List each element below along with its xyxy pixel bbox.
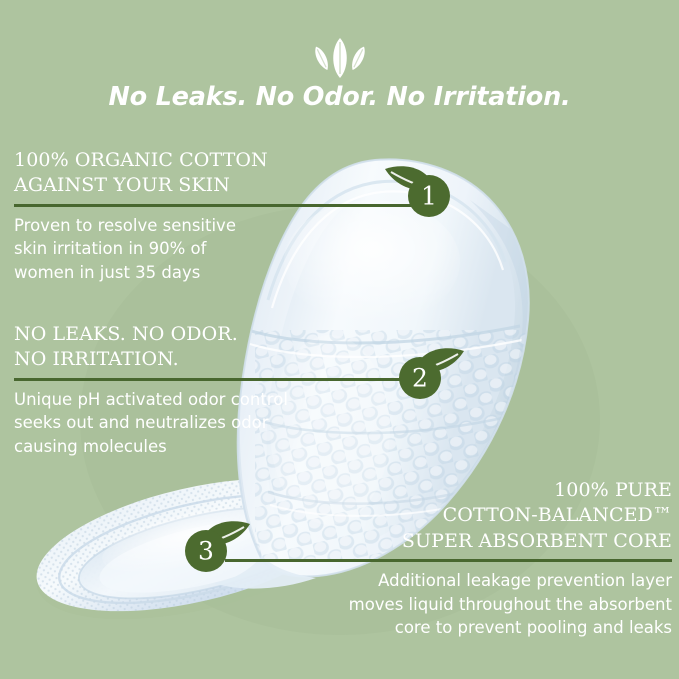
callout-3-divider bbox=[225, 559, 672, 562]
callout-2-divider bbox=[14, 378, 424, 381]
callout-block-3: 100% PURE COTTON-BALANCED™ SUPER ABSORBE… bbox=[225, 478, 672, 640]
callout-1-divider bbox=[14, 204, 412, 207]
callout-3-body: Additional leakage prevention layer move… bbox=[225, 569, 672, 640]
callout-badge-3: 3 bbox=[178, 518, 252, 576]
callout-badge-2-number: 2 bbox=[412, 364, 428, 393]
callout-block-2: NO LEAKS. NO ODOR. NO IRRITATION. Unique… bbox=[14, 322, 424, 459]
tagline: No Leaks. No Odor. No Irritation. bbox=[0, 82, 679, 112]
callout-2-body: Unique pH activated odor control seeks o… bbox=[14, 388, 314, 459]
callout-badge-1-number: 1 bbox=[421, 182, 437, 211]
infographic-canvas: No Leaks. No Odor. No Irritation. bbox=[0, 0, 679, 679]
callout-badge-1: 1 bbox=[383, 163, 457, 221]
callout-badge-2: 2 bbox=[392, 345, 466, 403]
callout-2-heading: NO LEAKS. NO ODOR. NO IRRITATION. bbox=[14, 322, 424, 373]
callout-block-1: 100% ORGANIC COTTON AGAINST YOUR SKIN Pr… bbox=[14, 148, 412, 285]
callout-1-body: Proven to resolve sensitive skin irritat… bbox=[14, 214, 294, 285]
three-leaves-icon bbox=[0, 36, 679, 82]
callout-3-heading: 100% PURE COTTON-BALANCED™ SUPER ABSORBE… bbox=[225, 478, 672, 554]
callout-1-heading: 100% ORGANIC COTTON AGAINST YOUR SKIN bbox=[14, 148, 412, 199]
callout-badge-3-number: 3 bbox=[198, 537, 214, 566]
